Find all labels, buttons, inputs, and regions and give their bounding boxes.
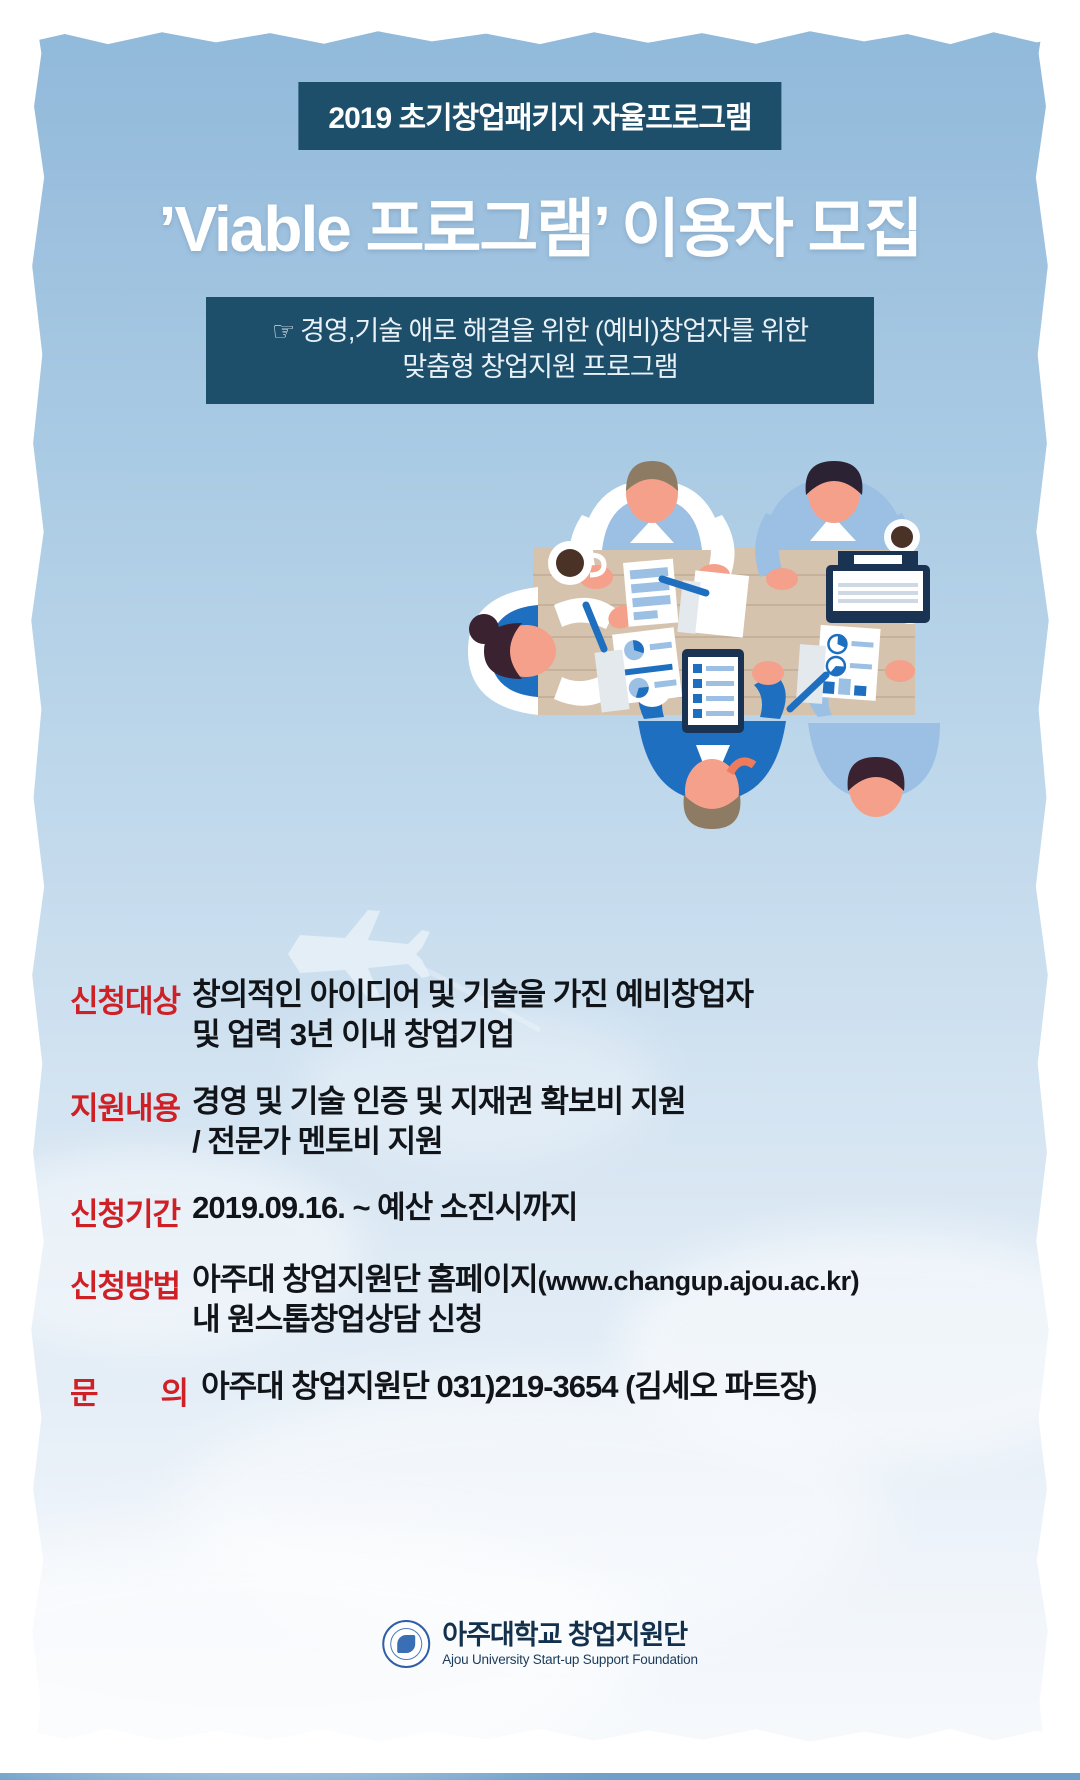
info-value-support-line1: 경영 및 기술 인증 및 지재권 확보비 지원 [192, 1082, 686, 1122]
info-value-target-line1: 창의적인 아이디어 및 기술을 가진 예비창업자 [192, 975, 753, 1015]
info-label-method: 신청방법 [70, 1260, 180, 1306]
footer-logo: 아주대학교 창업지원단 Ajou University Start-up Sup… [382, 1620, 698, 1668]
document-bars [623, 559, 678, 627]
info-value-target: 창의적인 아이디어 및 기술을 가진 예비창업자 및 업력 3년 이내 창업기업 [192, 975, 753, 1056]
header-badge: 2019 초기창업패키지 자율프로그램 [298, 82, 781, 150]
info-label-contact-part2: 의 [161, 1376, 190, 1411]
info-row-method: 신청방법 아주대 창업지원단 홈페이지(www.changup.ajou.ac.… [70, 1260, 1040, 1341]
info-value-method-line1: 아주대 창업지원단 홈페이지(www.changup.ajou.ac.kr) [192, 1260, 859, 1300]
info-value-method-line2: 내 원스톱창업상담 신청 [192, 1300, 859, 1340]
footer-org-kr: 아주대학교 창업지원단 [442, 1621, 698, 1649]
poster-canvas: 2019 초기창업패키지 자율프로그램 ’Viable 프로그램’ 이용자 모집… [0, 0, 1080, 1773]
laptop-icon [826, 551, 930, 623]
info-value-support: 경영 및 기술 인증 및 지재권 확보비 지원 / 전문가 멘토비 지원 [192, 1082, 686, 1163]
tablet-icon [682, 649, 744, 733]
info-value-method: 아주대 창업지원단 홈페이지(www.changup.ajou.ac.kr) 내… [192, 1260, 859, 1341]
info-value-period: 2019.09.16. ~ 예산 소진시까지 [192, 1188, 577, 1228]
info-value-target-line2: 및 업력 3년 이내 창업기업 [192, 1015, 753, 1055]
info-label-contact: 문의 [70, 1367, 189, 1413]
info-value-support-line2: / 전문가 멘토비 지원 [192, 1122, 686, 1162]
info-label-target: 신청대상 [70, 975, 180, 1021]
subtitle-line-2: 맞춤형 창업지원 프로그램 [216, 349, 864, 385]
info-list: 신청대상 창의적인 아이디어 및 기술을 가진 예비창업자 및 업력 3년 이내… [70, 975, 1040, 1439]
info-row-support: 지원내용 경영 및 기술 인증 및 지재권 확보비 지원 / 전문가 멘토비 지… [70, 1082, 1040, 1163]
document-chart-right [816, 625, 881, 701]
subtitle-line-1: ☞경영,기술 애로 해결을 위한 (예비)창업자를 위한 [216, 313, 864, 349]
ajou-university-seal-icon [382, 1620, 430, 1668]
info-label-support: 지원내용 [70, 1082, 180, 1128]
info-value-period-line1: 2019.09.16. ~ 예산 소진시까지 [192, 1188, 577, 1228]
pointing-hand-icon: ☞ [272, 316, 294, 346]
team-meeting-illustration [430, 455, 940, 880]
coffee-cup-icon [884, 519, 920, 555]
info-row-target: 신청대상 창의적인 아이디어 및 기술을 가진 예비창업자 및 업력 3년 이내… [70, 975, 1040, 1056]
subtitle-box: ☞경영,기술 애로 해결을 위한 (예비)창업자를 위한 맞춤형 창업지원 프로… [206, 297, 874, 404]
homepage-url[interactable]: (www.changup.ajou.ac.kr) [538, 1266, 860, 1296]
footer-org-en: Ajou University Start-up Support Foundat… [442, 1652, 698, 1667]
subtitle-line-1-text: 경영,기술 애로 해결을 위한 (예비)창업자를 위한 [300, 316, 808, 346]
info-row-contact: 문의 아주대 창업지원단 031)219-3654 (김세오 파트장) [70, 1367, 1040, 1413]
info-value-method-text: 아주대 창업지원단 홈페이지 [192, 1262, 537, 1297]
info-value-contact: 아주대 창업지원단 031)219-3654 (김세오 파트장) [201, 1367, 816, 1407]
info-label-contact-part1: 문 [70, 1376, 99, 1411]
info-value-contact-line1: 아주대 창업지원단 031)219-3654 (김세오 파트장) [201, 1367, 816, 1407]
info-label-period: 신청기간 [70, 1188, 180, 1234]
page-title: ’Viable 프로그램’ 이용자 모집 [0, 178, 1080, 270]
footer-text: 아주대학교 창업지원단 Ajou University Start-up Sup… [442, 1621, 698, 1666]
info-row-period: 신청기간 2019.09.16. ~ 예산 소진시까지 [70, 1188, 1040, 1234]
